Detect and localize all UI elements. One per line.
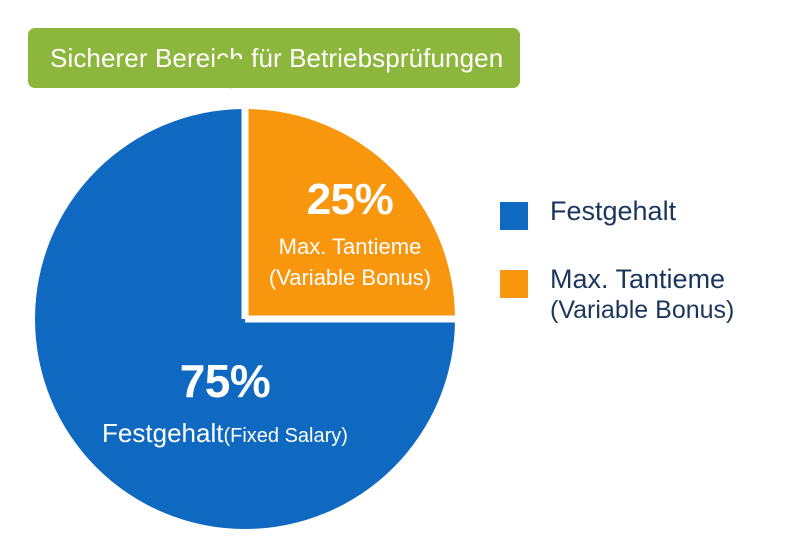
pie-chart-svg (32, 106, 458, 532)
banner-body: Sicherer Bereich für Betriebsprüfungen (28, 28, 520, 88)
callout-banner: Sicherer Bereich für Betriebsprüfungen (28, 28, 520, 88)
banner-title: Sicherer Bereich für Betriebsprüfungen (50, 45, 503, 71)
legend-label-max-tantieme: Max. Tantieme (550, 264, 734, 296)
banner-pointer-triangle-icon (215, 59, 247, 89)
legend-swatch-blue-icon (500, 202, 528, 230)
legend-text-festgehalt: Festgehalt (550, 196, 676, 228)
legend-sublabel-variable-bonus: (Variable Bonus) (550, 296, 734, 326)
legend-label-festgehalt: Festgehalt (550, 196, 676, 228)
legend-swatch-orange-icon (500, 270, 528, 298)
legend-item-festgehalt[interactable]: Festgehalt (500, 196, 790, 230)
legend-text-max-tantieme: Max. Tantieme (Variable Bonus) (550, 264, 734, 325)
pie-chart (32, 106, 458, 532)
legend-item-max-tantieme[interactable]: Max. Tantieme (Variable Bonus) (500, 264, 790, 325)
chart-legend: Festgehalt Max. Tantieme (Variable Bonus… (500, 196, 790, 359)
pie-slice-max-tantieme (245, 109, 455, 319)
